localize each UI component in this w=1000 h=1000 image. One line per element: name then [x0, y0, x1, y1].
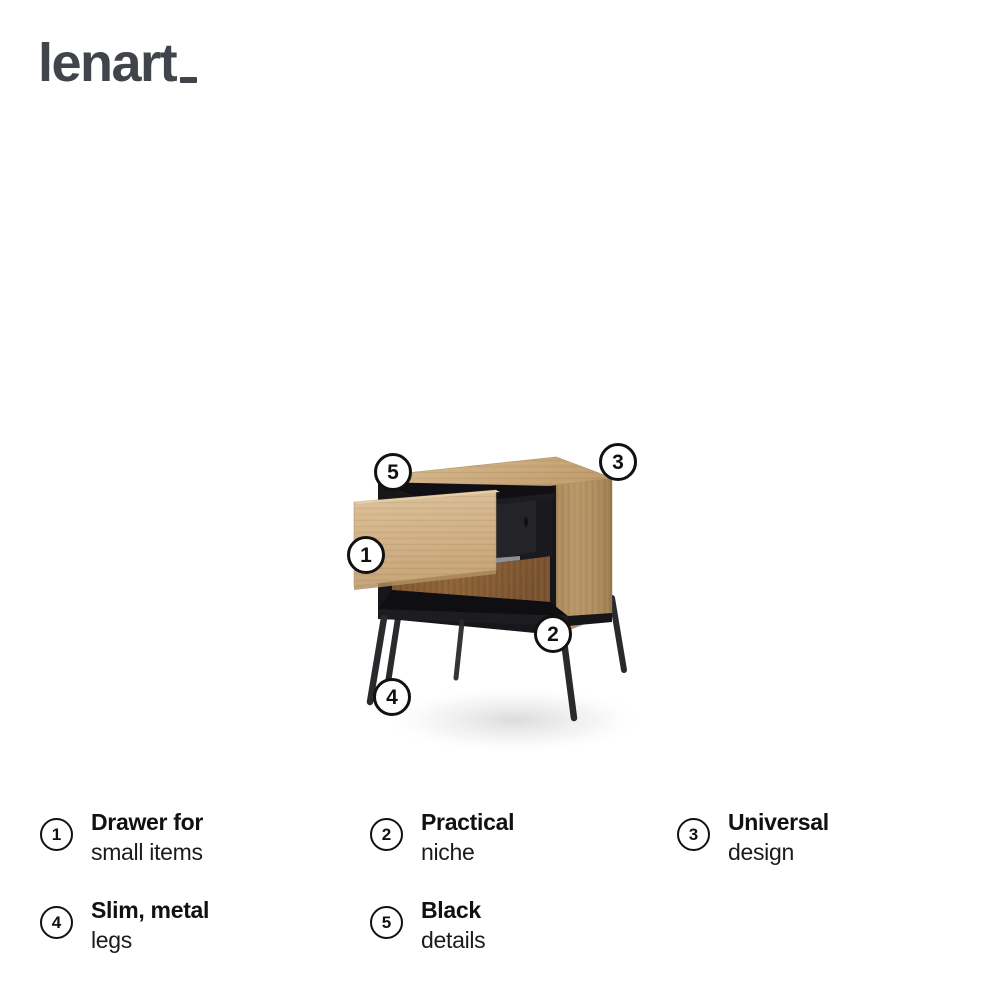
legend-badge-4: 4: [40, 906, 73, 939]
callout-badge-1[interactable]: 1: [347, 536, 385, 574]
legend-badge-5-number: 5: [382, 914, 391, 931]
legend-badge-3: 3: [677, 818, 710, 851]
callout-badge-1-number: 1: [360, 545, 372, 566]
floor-shadow: [380, 686, 650, 754]
legend-title-1: Drawer for: [91, 807, 203, 837]
legend-item-1: 1 Drawer for small items: [40, 805, 370, 893]
callout-badge-4[interactable]: 4: [373, 678, 411, 716]
legend-badge-4-number: 4: [52, 914, 61, 931]
legend-sub-2: niche: [421, 837, 514, 867]
brand-name: lenart: [38, 36, 176, 90]
legend-title-2: Practical: [421, 807, 514, 837]
legend-text-5: Black details: [421, 893, 485, 956]
legend-badge-2-number: 2: [382, 826, 391, 843]
brand-underscore-icon: [180, 77, 197, 83]
callout-badge-3-number: 3: [612, 452, 624, 473]
drawer-side-detail: [524, 517, 528, 527]
legend-title-5: Black: [421, 895, 485, 925]
legend-title-4: Slim, metal: [91, 895, 209, 925]
brand-logo: lenart: [38, 36, 197, 90]
legend-badge-5: 5: [370, 906, 403, 939]
callout-badge-2[interactable]: 2: [534, 615, 572, 653]
legend-item-5: 5 Black details: [370, 893, 677, 981]
legend-item-3: 3 Universal design: [677, 805, 977, 893]
callout-badge-2-number: 2: [547, 624, 559, 645]
legend-sub-1: small items: [91, 837, 203, 867]
legend-sub-3: design: [728, 837, 829, 867]
legend-item-4: 4 Slim, metal legs: [40, 893, 370, 981]
legend-text-1: Drawer for small items: [91, 805, 203, 868]
feature-legend: 1 Drawer for small items 2 Practical nic…: [40, 805, 970, 981]
legend-badge-1-number: 1: [52, 826, 61, 843]
callout-badge-3[interactable]: 3: [599, 443, 637, 481]
legend-text-3: Universal design: [728, 805, 829, 868]
leg-mid-left: [456, 622, 462, 678]
legend-badge-2: 2: [370, 818, 403, 851]
legend-sub-4: legs: [91, 925, 209, 955]
legend-badge-1: 1: [40, 818, 73, 851]
legend-title-3: Universal: [728, 807, 829, 837]
legend-text-2: Practical niche: [421, 805, 514, 868]
callout-badge-4-number: 4: [386, 687, 398, 708]
legend-text-4: Slim, metal legs: [91, 893, 209, 956]
legend-item-2: 2 Practical niche: [370, 805, 677, 893]
legend-sub-5: details: [421, 925, 485, 955]
legend-badge-3-number: 3: [689, 826, 698, 843]
product-illustration-stage: 1 2 3 4 5: [0, 390, 1000, 770]
callout-badge-5-number: 5: [387, 462, 399, 483]
callout-badge-5[interactable]: 5: [374, 453, 412, 491]
leg-back-right: [612, 598, 624, 670]
